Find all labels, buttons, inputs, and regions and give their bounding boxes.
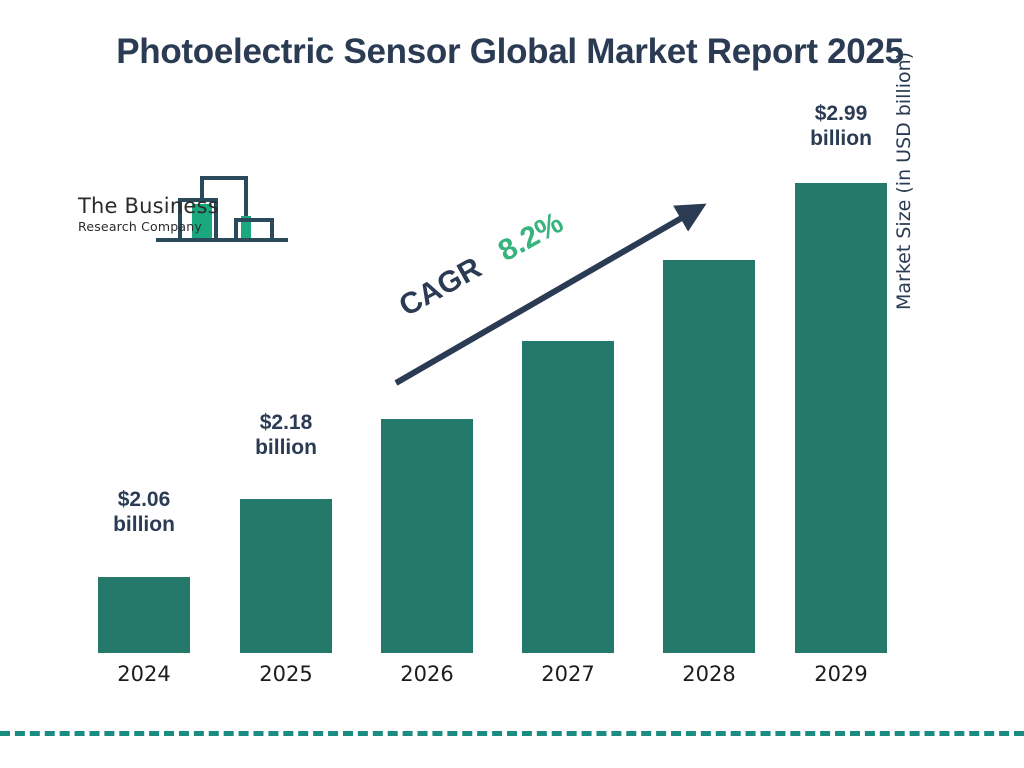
value-label-2029: $2.99 billion	[781, 101, 901, 151]
x-tick-2028: 2028	[649, 662, 769, 686]
x-tick-2025: 2025	[226, 662, 346, 686]
x-tick-2027: 2027	[508, 662, 628, 686]
bar-2025	[240, 499, 332, 653]
chart-canvas: Photoelectric Sensor Global Market Repor…	[0, 0, 1024, 768]
value-label-2029-amount: $2.99	[781, 101, 901, 126]
bar-2029	[795, 183, 887, 653]
x-tick-2024: 2024	[84, 662, 204, 686]
value-label-2025-unit: billion	[226, 435, 346, 460]
bar-2024	[98, 577, 190, 653]
logo-line-2: Research Company	[78, 221, 219, 234]
value-label-2025-amount: $2.18	[226, 410, 346, 435]
footer-divider	[0, 731, 1024, 736]
logo-wordmark: The Business Research Company	[78, 196, 219, 234]
value-label-2029-unit: billion	[781, 126, 901, 151]
logo-line-1: The Business	[78, 196, 219, 217]
value-label-2025: $2.18 billion	[226, 410, 346, 460]
value-label-2024: $2.06 billion	[84, 487, 204, 537]
x-tick-2026: 2026	[367, 662, 487, 686]
bar-2027	[522, 341, 614, 653]
value-label-2024-unit: billion	[84, 512, 204, 537]
value-label-2024-amount: $2.06	[84, 487, 204, 512]
bar-2028	[663, 260, 755, 653]
bar-2026	[381, 419, 473, 653]
y-axis-title: Market Size (in USD billion)	[893, 0, 915, 310]
x-tick-2029: 2029	[781, 662, 901, 686]
